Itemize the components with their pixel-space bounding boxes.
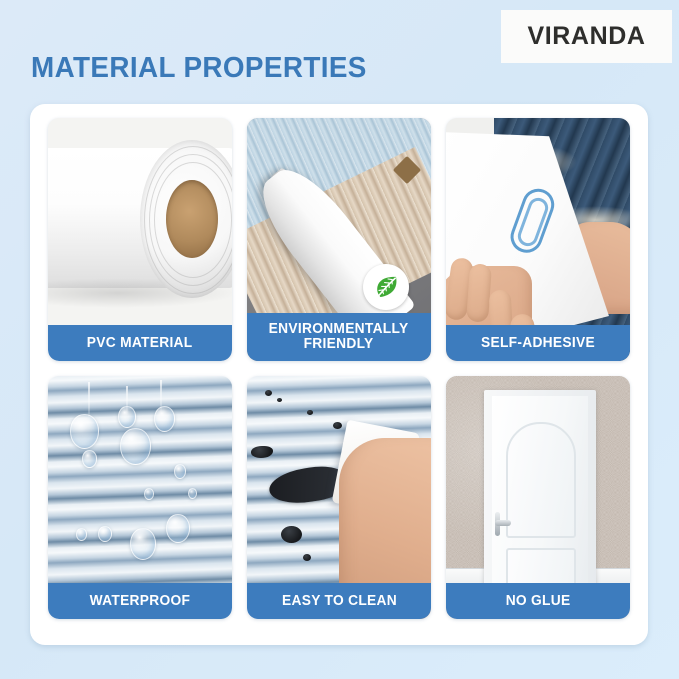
feature-card-easy-to-clean[interactable]: EASY TO CLEAN (247, 376, 431, 619)
feature-label-no-glue: NO GLUE (446, 583, 630, 619)
roll-core-icon (166, 180, 218, 258)
feature-card-environmentally-friendly[interactable]: ENVIRONMENTALLYFRIENDLY (247, 118, 431, 361)
infographic-page: VIRANDA MATERIAL PROPERTIES PVC MATERIAL (0, 0, 679, 679)
feature-label-waterproof: WATERPROOF (48, 583, 232, 619)
feature-label-environmentally-friendly: ENVIRONMENTALLYFRIENDLY (247, 313, 431, 361)
features-panel: PVC MATERIAL (30, 104, 648, 645)
brand-logo: VIRANDA (501, 10, 672, 63)
eco-leaf-badge (363, 264, 409, 310)
feature-card-waterproof[interactable]: WATERPROOF (48, 376, 232, 619)
feature-label-text: ENVIRONMENTALLYFRIENDLY (269, 322, 409, 352)
page-title: MATERIAL PROPERTIES (31, 52, 367, 85)
feature-card-pvc-material[interactable]: PVC MATERIAL (48, 118, 232, 361)
feature-label-text: WATERPROOF (90, 594, 191, 609)
feature-card-no-glue[interactable]: NO GLUE (446, 376, 630, 619)
feature-label-text: NO GLUE (506, 594, 571, 609)
feature-card-self-adhesive[interactable]: SELF-ADHESIVE (446, 118, 630, 361)
leaf-icon (371, 272, 401, 302)
brand-name: VIRANDA (527, 22, 645, 51)
feature-label-self-adhesive: SELF-ADHESIVE (446, 325, 630, 361)
features-grid: PVC MATERIAL (48, 118, 630, 619)
feature-label-text: PVC MATERIAL (87, 336, 193, 351)
feature-label-text: SELF-ADHESIVE (481, 336, 595, 351)
feature-label-text: EASY TO CLEAN (282, 594, 397, 609)
feature-label-pvc-material: PVC MATERIAL (48, 325, 232, 361)
feature-label-easy-to-clean: EASY TO CLEAN (247, 583, 431, 619)
